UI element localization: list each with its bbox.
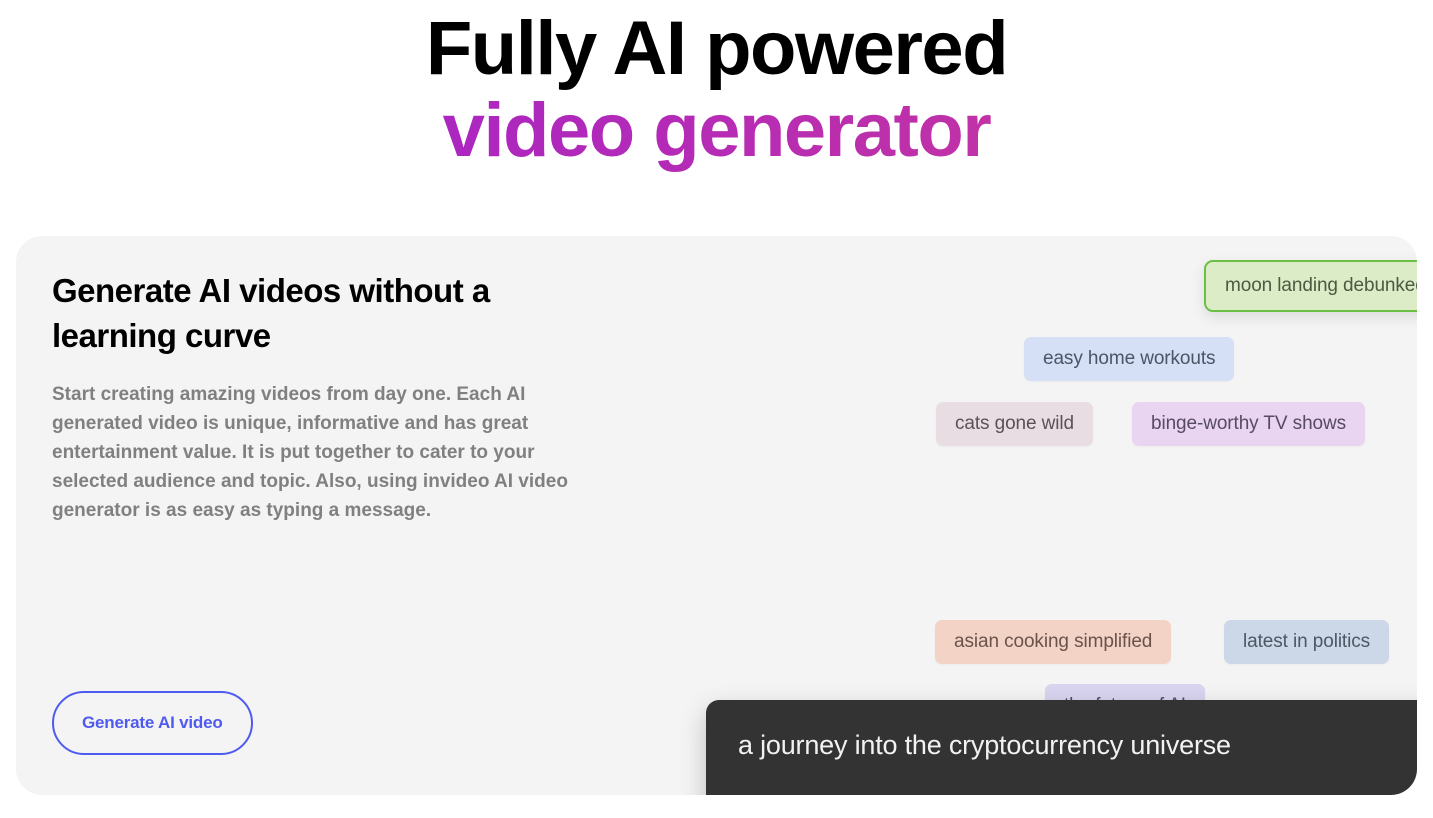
topic-pill[interactable]: asian cooking simplified xyxy=(935,620,1171,664)
hero-heading: Fully AI powered video generator xyxy=(0,0,1433,172)
hero-line-gradient: video generator xyxy=(0,90,1433,172)
generate-ai-video-button[interactable]: Generate AI video xyxy=(52,691,253,755)
prompt-text: a journey into the cryptocurrency univer… xyxy=(738,730,1231,761)
topic-pill[interactable]: cats gone wild xyxy=(936,402,1093,446)
prompt-panel[interactable]: a journey into the cryptocurrency univer… xyxy=(706,700,1417,795)
hero-line-primary: Fully AI powered xyxy=(0,8,1433,90)
card-left-column: Generate AI videos without a learning cu… xyxy=(52,268,622,525)
card-description: Start creating amazing videos from day o… xyxy=(52,380,612,525)
topic-pill[interactable]: binge-worthy TV shows xyxy=(1132,402,1365,446)
topic-pill[interactable]: moon landing debunked xyxy=(1204,260,1417,312)
card-title: Generate AI videos without a learning cu… xyxy=(52,268,622,358)
topic-pill[interactable]: easy home workouts xyxy=(1024,337,1234,381)
feature-card: Generate AI videos without a learning cu… xyxy=(16,236,1417,795)
topic-pill[interactable]: latest in politics xyxy=(1224,620,1389,664)
page-root: Fully AI powered video generator Generat… xyxy=(0,0,1433,818)
